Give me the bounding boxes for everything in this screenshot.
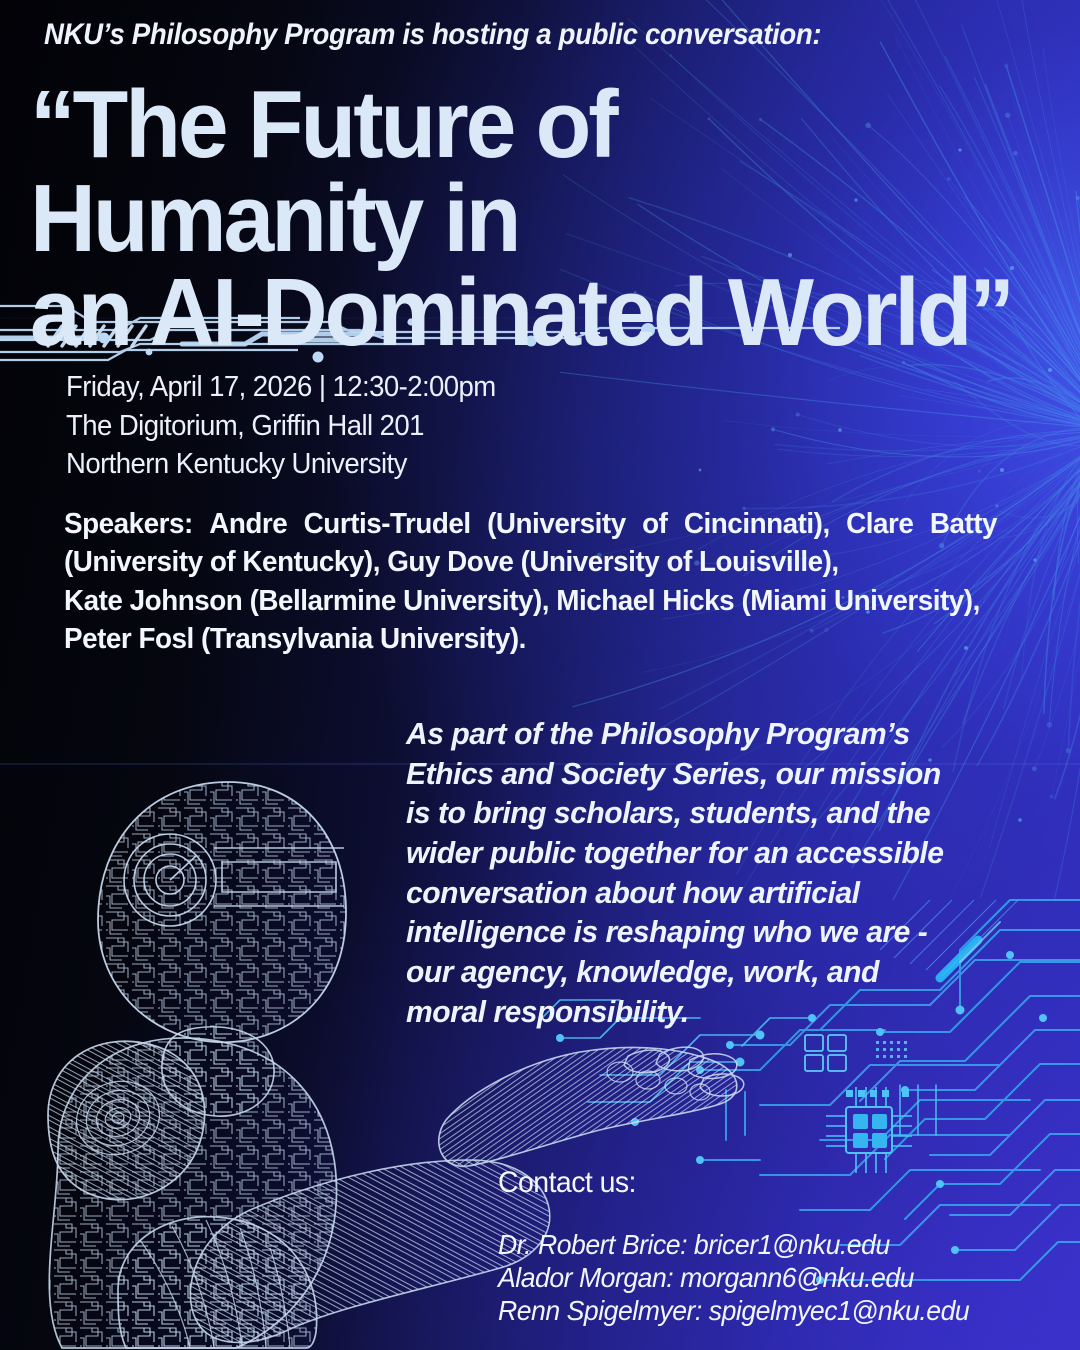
poster-canvas: NKU’s Philosophy Program is hosting a pu… [0, 0, 1080, 1350]
contact-heading: Contact us: [498, 1166, 636, 1200]
contact-item-morgan[interactable]: Alador Morgan: morgann6@nku.edu [498, 1261, 969, 1294]
pad-group-icon [805, 1035, 846, 1071]
speakers-label: Speakers: [64, 505, 193, 543]
speakers-line-3: Kate Johnson (Bellarmine University), Mi… [64, 582, 997, 620]
kicker-text: NKU’s Philosophy Program is hosting a pu… [44, 18, 821, 52]
contact-item-spigelmyer[interactable]: Renn Spigelmyer: spigelmyec1@nku.edu [498, 1294, 969, 1327]
event-details: Friday, April 17, 2026 | 12:30-2:00pm Th… [66, 368, 496, 484]
speakers-line-1: Speakers: Andre Curtis-Trudel (Universit… [64, 505, 997, 543]
speakers-line-2: (University of Kentucky), Guy Dove (Univ… [64, 543, 997, 581]
mission-line-6: intelligence is reshaping who we are - [406, 912, 1012, 952]
contact-item-brice[interactable]: Dr. Robert Brice: bricer1@nku.edu [498, 1228, 969, 1261]
mission-line-5: conversation about how artificial [406, 873, 1012, 913]
mission-line-2: Ethics and Society Series, our mission [406, 754, 1012, 794]
mission-line-1: As part of the Philosophy Program’s [406, 714, 1012, 754]
speakers-line-4: Peter Fosl (Transylvania University). [64, 620, 997, 658]
event-datetime: Friday, April 17, 2026 | 12:30-2:00pm [66, 368, 496, 407]
speakers-block: Speakers: Andre Curtis-Trudel (Universit… [64, 505, 997, 658]
mission-line-7: our agency, knowledge, work, and [406, 952, 1012, 992]
page-title: “The Future of Humanity in an AI-Dominat… [30, 78, 1013, 360]
title-line-2: an AI-Dominated World” [30, 266, 1013, 360]
contact-list: Dr. Robert Brice: bricer1@nku.edu Alador… [498, 1228, 969, 1327]
mission-line-8: moral responsibility. [406, 992, 1012, 1032]
event-institution: Northern Kentucky University [66, 445, 496, 484]
chip-icon [826, 1087, 912, 1173]
title-line-1: “The Future of Humanity in [30, 71, 616, 272]
mission-statement: As part of the Philosophy Program’s Ethi… [406, 714, 1012, 1031]
event-venue: The Digitorium, Griffin Hall 201 [66, 407, 496, 446]
mission-line-3: is to bring scholars, students, and the [406, 793, 1012, 833]
mission-line-4: wider public together for an accessible [406, 833, 1012, 873]
